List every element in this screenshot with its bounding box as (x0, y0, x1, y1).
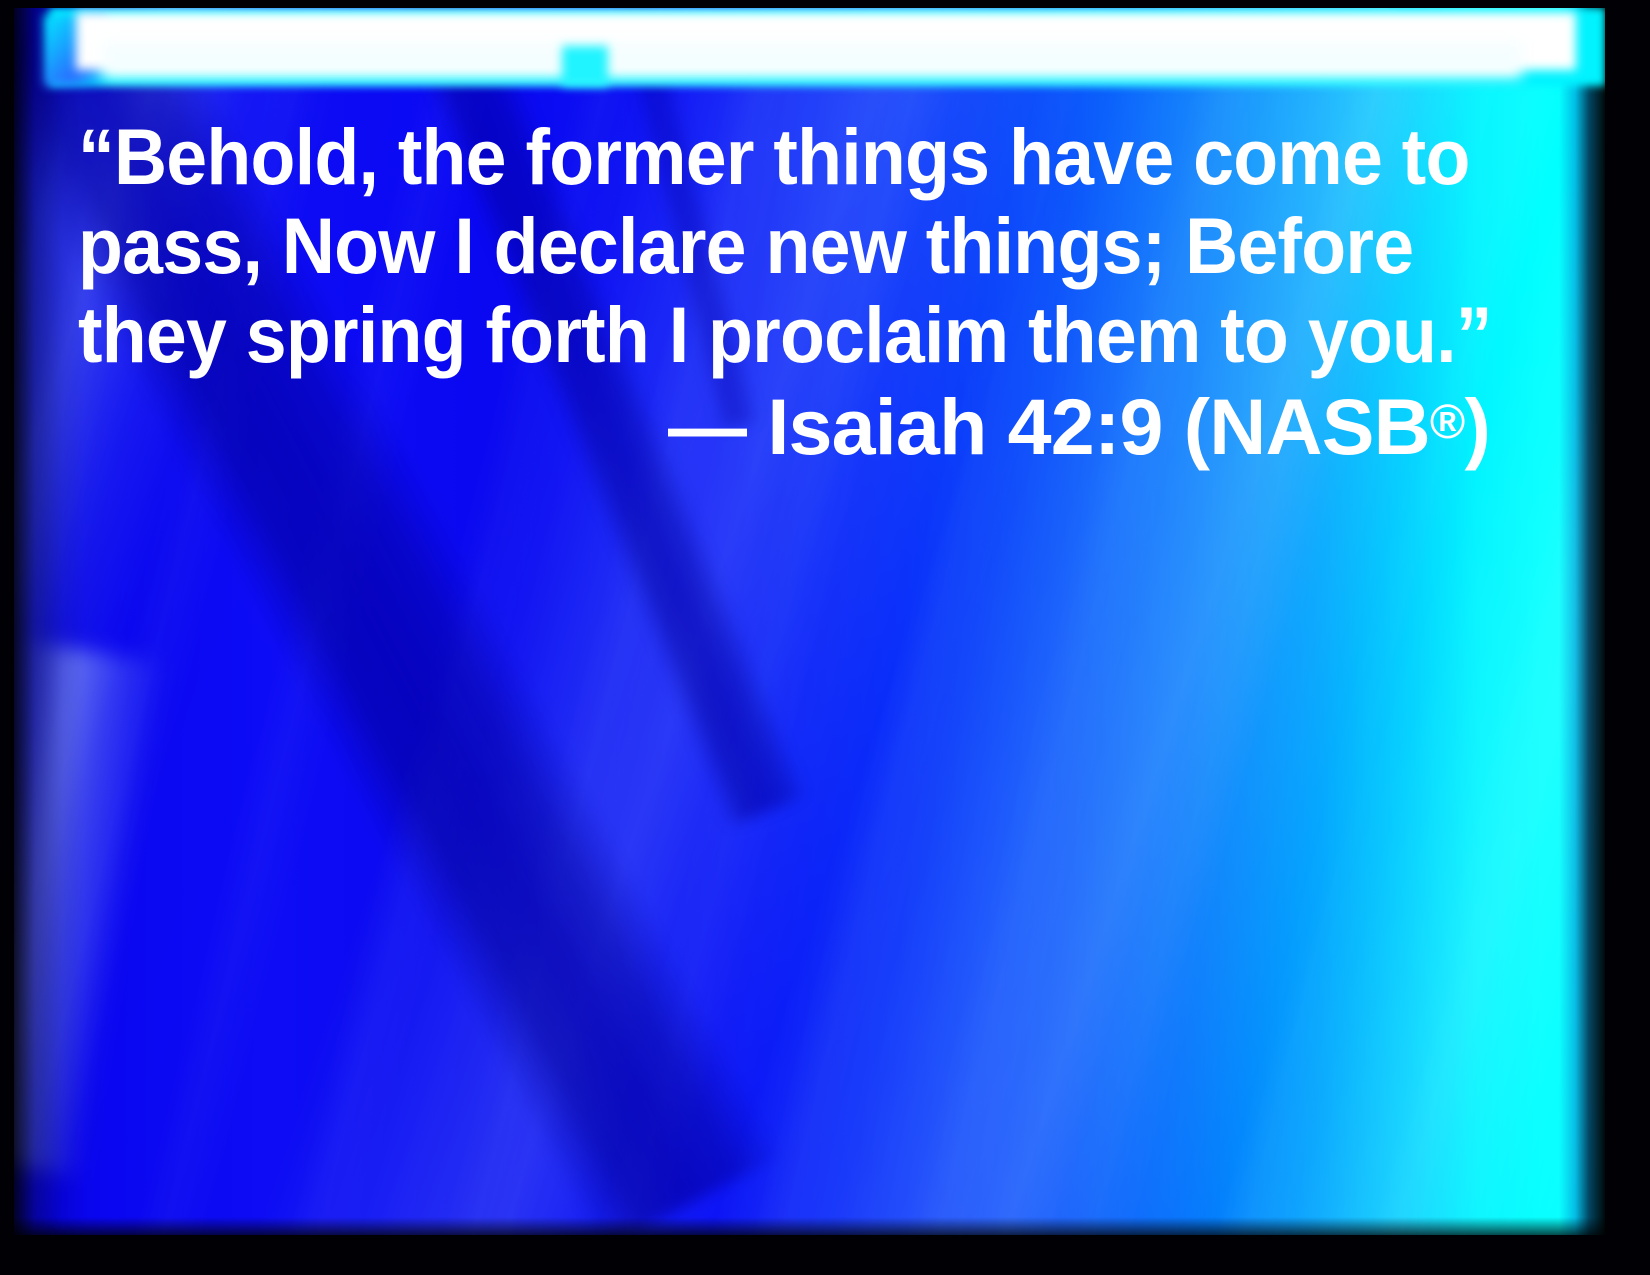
top-glow-band (14, 8, 1605, 100)
top-band-notch (562, 46, 608, 86)
top-band-white-underlayer (102, 42, 1522, 78)
scripture-attribution: — Isaiah 42:9 (NASB®) (78, 378, 1490, 471)
attribution-reference: — Isaiah 42:9 (NASB (668, 382, 1430, 471)
registered-trademark-icon: ® (1430, 396, 1465, 449)
quote-line-3: they spring forth I proclaim them to you… (78, 290, 1402, 379)
background-bottom-shadow (14, 1217, 1605, 1235)
quote-line-1: “Behold, the former things have come to (78, 112, 1402, 201)
scripture-quote: “Behold, the former things have come to … (78, 112, 1502, 379)
quote-line-2: pass, Now I declare new things; Before (78, 201, 1402, 290)
background-right-shadow (1559, 8, 1605, 1235)
attribution-close-paren: ) (1464, 382, 1490, 471)
background-left-shadow (14, 8, 84, 1235)
scripture-slide: “Behold, the former things have come to … (0, 0, 1650, 1275)
